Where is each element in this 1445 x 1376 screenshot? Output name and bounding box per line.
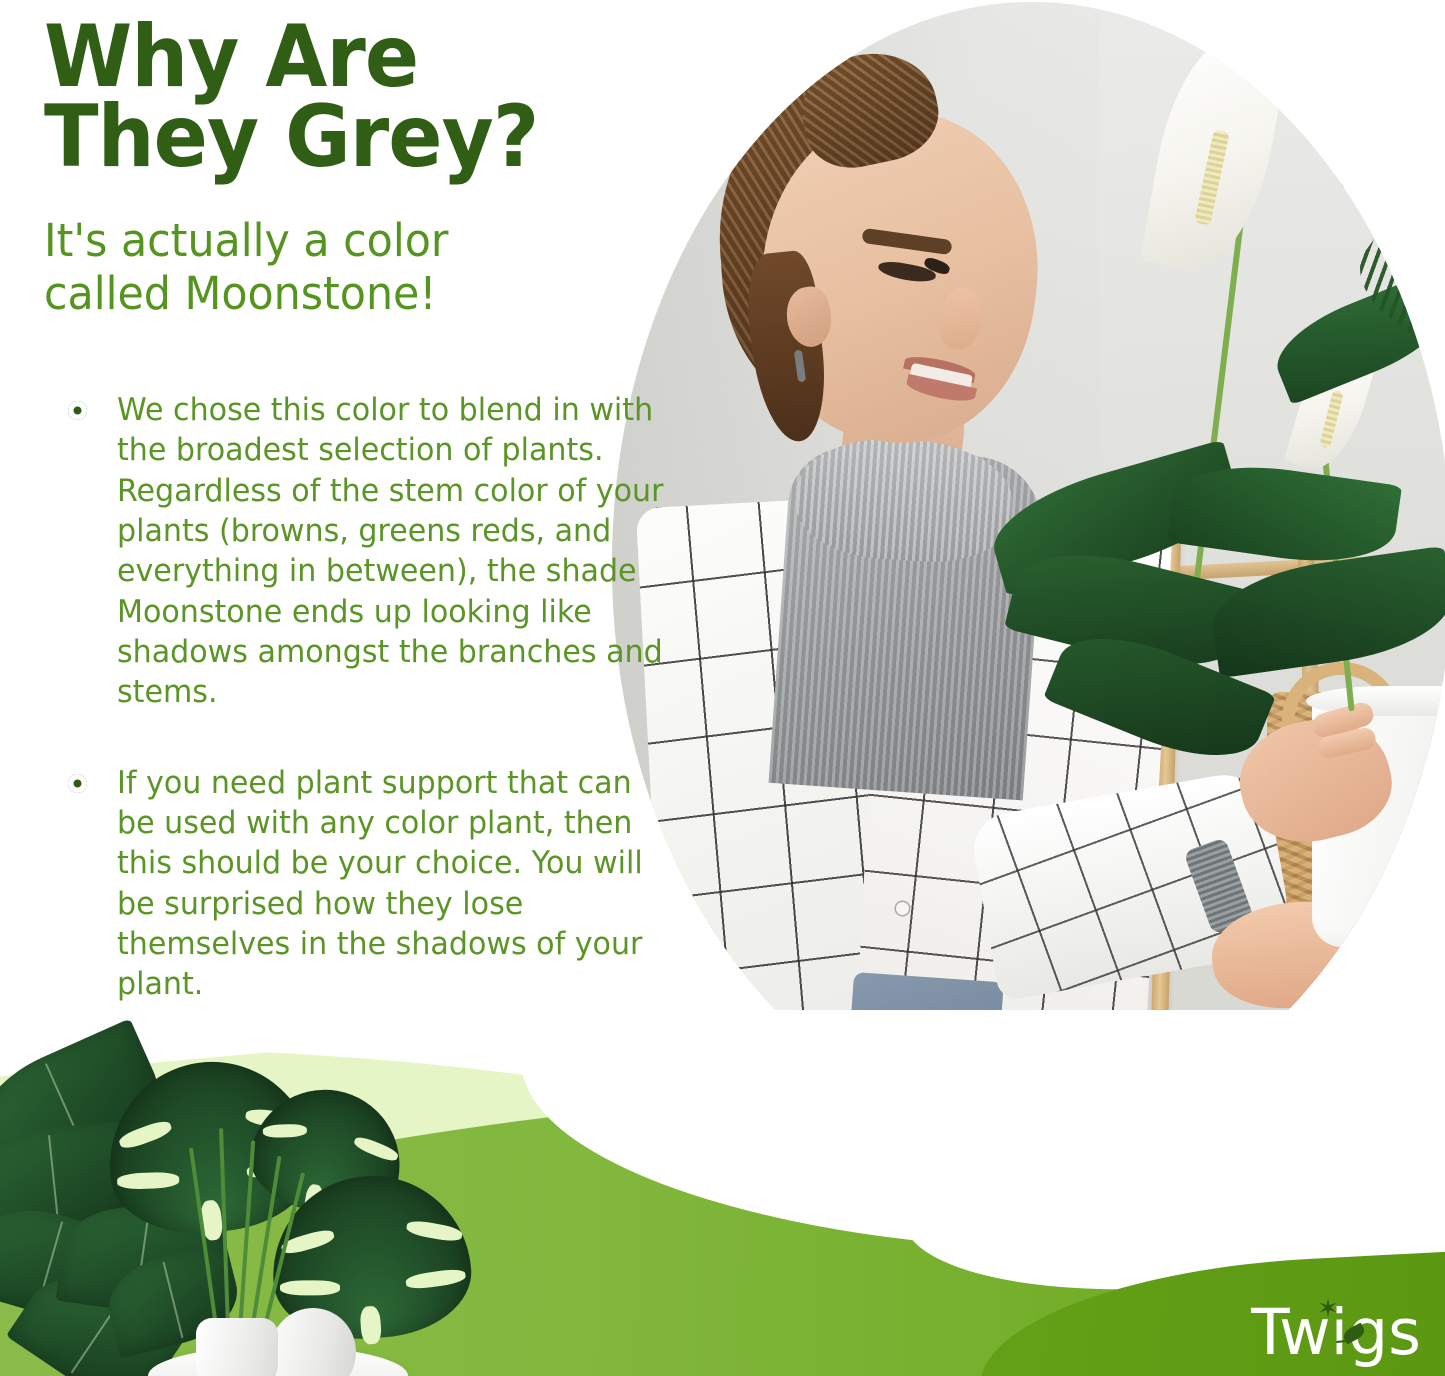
shirt-button	[896, 902, 909, 915]
page-subtitle: It's actually a color called Moonstone!	[44, 214, 576, 320]
monstera-slit	[405, 1267, 467, 1290]
ring-bullet-icon	[68, 401, 87, 420]
monstera-slit	[352, 1134, 400, 1163]
list-item: We chose this color to blend in with the…	[44, 390, 694, 713]
monstera-slit	[280, 1280, 340, 1295]
monstera-slit	[117, 1118, 173, 1152]
text-column: Why Are They Grey? It's actually a color…	[0, 0, 710, 1055]
bullet-text: We chose this color to blend in with the…	[117, 390, 668, 713]
list-item: If you need plant support that can be us…	[44, 763, 694, 1005]
infographic-canvas: Why Are They Grey? It's actually a color…	[0, 0, 1445, 1376]
page-title: Why Are They Grey?	[44, 18, 649, 178]
monstera-slit	[359, 1306, 382, 1345]
ring-bullet-icon	[68, 774, 87, 793]
monstera-slit	[405, 1219, 463, 1243]
monstera-slit	[117, 1172, 180, 1190]
hero-photo-image	[612, 2, 1445, 1127]
bullet-text: If you need plant support that can be us…	[117, 763, 668, 1005]
white-pot-cylindrical	[196, 1318, 278, 1376]
hero-photo	[612, 2, 1445, 1127]
bullet-list: We chose this color to blend in with the…	[44, 390, 694, 1004]
brand-logo[interactable]: Twigs ✶	[1251, 1301, 1421, 1364]
monstera-slit	[263, 1124, 307, 1139]
tropical-leaves-cluster	[0, 1028, 560, 1376]
bottom-decoration	[0, 1010, 1445, 1376]
